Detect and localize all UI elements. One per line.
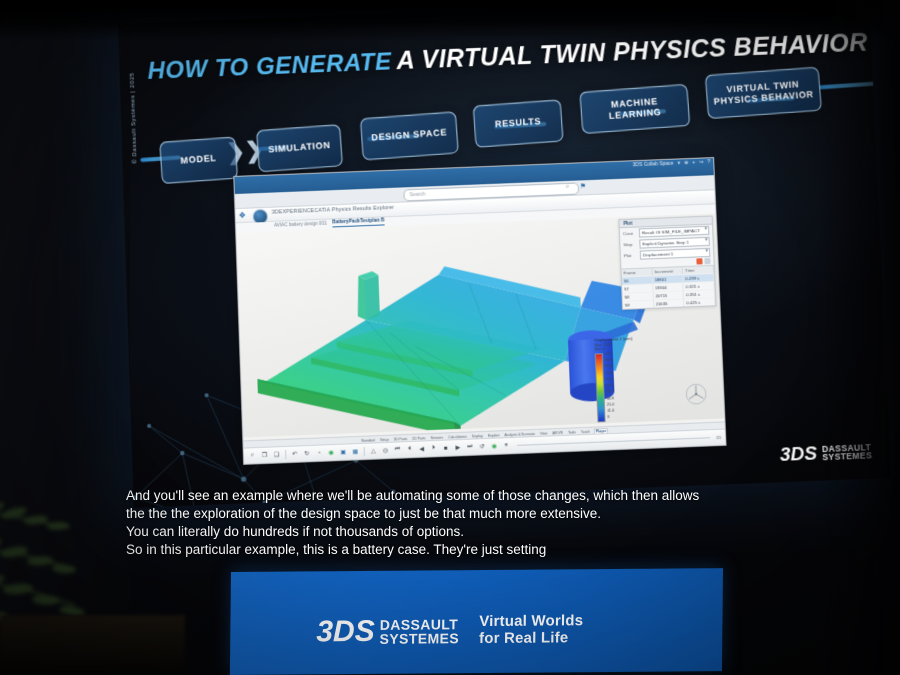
search-icon[interactable]: ⌕: [566, 184, 570, 191]
legend-tick: 11.0: [607, 410, 615, 414]
undo-icon[interactable]: ↶: [290, 449, 299, 458]
legend-tick: 40.7: [606, 391, 614, 395]
cell-time: 0.425 s: [684, 297, 715, 306]
cell-frame: 59: [623, 300, 654, 309]
step-back-icon[interactable]: ⏴: [405, 445, 414, 454]
plot-step-label: Step: [623, 242, 637, 248]
render-icon[interactable]: ◉: [326, 448, 335, 457]
caption-overlay: And you'll see an example where we'll be…: [126, 487, 856, 559]
title-highlight: HOW TO GENERATE: [147, 48, 392, 85]
tagline-line1: Virtual Worlds: [479, 613, 583, 631]
legend-tick: 21.0: [607, 403, 615, 407]
cad-application-window[interactable]: – □ × 3DS Collab Space ▾ ⊕ + ↪ ? Search: [233, 157, 726, 465]
flow-step-label: DESIGN SPACE: [371, 127, 448, 144]
flow-step-label: SIMULATION: [268, 140, 331, 156]
caption-line: the the the exploration of the design sp…: [126, 505, 856, 523]
contour-settings-icon[interactable]: [696, 258, 702, 264]
toolbar-divider: [285, 450, 286, 459]
legend-color-bar: [595, 353, 606, 422]
play-back-icon[interactable]: ◀: [417, 444, 426, 453]
brand-module: Physics Results Explorer: [332, 205, 395, 213]
tag-icon[interactable]: ⚑: [580, 182, 587, 190]
edit-plot-icon[interactable]: [704, 258, 710, 264]
globe-icon[interactable]: ⊕: [684, 160, 688, 166]
contour-legend: Displacement 1 (mm) Max: 103 Min: 0 103 …: [594, 335, 666, 438]
collab-space-area[interactable]: 3DS Collab Space ▾ ⊕ + ↪ ?: [633, 159, 711, 168]
flow-step-label: RESULTS: [495, 116, 542, 131]
skip-last-icon[interactable]: ⏭: [465, 443, 474, 452]
flow-step-model[interactable]: MODEL: [159, 136, 238, 184]
bottom-banner: 3DS DASSAULT SYSTEMES Virtual Worlds for…: [230, 568, 723, 675]
frame-table[interactable]: Frame Increment Time 56 18801 0.299 s 57: [621, 265, 715, 309]
status-right: 1/1: [716, 435, 721, 439]
legend-ticks: 103 90.3 80.4 70.5 60.4 50.6 40.7 30.8 2…: [605, 353, 615, 420]
legend-tick: 103: [605, 353, 613, 357]
zoom-icon[interactable]: ⌕: [248, 451, 257, 460]
banner-ds-logo: 3DS DASSAULT SYSTEMES: [316, 617, 459, 647]
caption-line: And you'll see an example where we'll be…: [126, 487, 856, 505]
timeline-scrubber[interactable]: [517, 437, 710, 446]
brand-suite: EXPERIENCE: [279, 208, 315, 215]
axis-triad-icon[interactable]: [682, 380, 709, 407]
legend-tick: 50.6: [606, 384, 614, 388]
flow-step-machine-learning[interactable]: MACHINE LEARNING: [579, 84, 690, 134]
skip-first-icon[interactable]: ⏮: [393, 445, 402, 454]
flow-step-results[interactable]: RESULTS: [473, 99, 564, 148]
flow-step-label: MACHINE LEARNING: [585, 94, 685, 124]
brand-product: CATIA: [314, 207, 330, 214]
cell-increment: 21635: [654, 298, 685, 307]
flow-step-label: MODEL: [180, 153, 217, 167]
ds-logo-line2: SYSTEMES: [380, 631, 460, 646]
ds-logo-words: DASSAULT SYSTEMES: [380, 617, 460, 646]
project-tab[interactable]: AVIAC battery design 001: [274, 221, 327, 228]
collab-space-label: 3DS Collab Space: [633, 161, 674, 169]
legend-tick: 60.4: [606, 378, 614, 382]
frame-back-icon[interactable]: ⏵: [429, 444, 438, 453]
target-icon[interactable]: ◎: [381, 446, 390, 455]
loop-icon[interactable]: ↺: [477, 442, 486, 451]
play-icon[interactable]: ▶: [453, 443, 462, 452]
paste-icon[interactable]: ❑: [272, 450, 281, 459]
chevron-down-icon[interactable]: ▾: [677, 160, 680, 166]
right-shadow: [820, 0, 900, 675]
rotate-icon[interactable]: ↻: [302, 449, 311, 458]
ds-logo-mark: 3DS: [316, 619, 375, 644]
legend-tick: 80.4: [605, 365, 613, 369]
presentation-slide: © Dassault Systèmes | 2025 HOW TO GENERA…: [118, 0, 891, 508]
record-icon[interactable]: ◉: [489, 442, 498, 451]
flow-step-virtual-twin[interactable]: VIRTUAL TWIN PHYSICS BEHAVIOR: [705, 67, 822, 119]
flow-step-label: VIRTUAL TWIN PHYSICS BEHAVIOR: [713, 78, 815, 108]
legend-tick: 70.5: [606, 372, 614, 376]
legend-body: 103 90.3 80.4 70.5 60.4 50.6 40.7 30.8 2…: [595, 351, 666, 423]
banner-tagline: Virtual Worlds for Real Life: [479, 613, 583, 647]
plot-case-label: Case: [623, 231, 637, 237]
banner-content: 3DS DASSAULT SYSTEMES Virtual Worlds for…: [316, 613, 583, 649]
legend-tick: 90.3: [605, 359, 613, 363]
3d-viewport[interactable]: Plot Case Result Of SIM_FILE_IMPACT Step…: [236, 213, 724, 437]
plus-icon[interactable]: +: [692, 160, 695, 166]
plot-panel[interactable]: Plot Case Result Of SIM_FILE_IMPACT Step…: [618, 215, 716, 309]
pause-icon[interactable]: ⏸: [502, 441, 511, 450]
grid-icon[interactable]: ▦: [351, 447, 360, 456]
caption-line: You can literally do hundreds if not tho…: [126, 523, 856, 541]
tagline-line2: for Real Life: [479, 630, 583, 648]
legend-tick: 30.8: [607, 397, 615, 401]
top-shadow: [0, 0, 900, 40]
help-icon[interactable]: ?: [707, 159, 710, 165]
globe-view-icon[interactable]: ◔: [314, 448, 323, 457]
toolbar-divider: [364, 447, 365, 456]
plot-plot-label: Plot: [624, 253, 638, 259]
slide-copyright: © Dassault Systèmes | 2025: [130, 72, 139, 164]
tab-close-icon[interactable]: ×: [377, 219, 380, 224]
measure-icon[interactable]: △: [369, 446, 378, 455]
ds-logo-mark: 3DS: [780, 446, 818, 463]
compass-icon[interactable]: ❖: [238, 211, 249, 223]
app-brand-text: 3DEXPERIENCECATIA Physics Results Explor…: [272, 205, 395, 216]
stop-icon[interactable]: ■: [441, 443, 450, 452]
flow-step-simulation[interactable]: SIMULATION: [256, 124, 343, 172]
flow-step-design-space[interactable]: DESIGN SPACE: [360, 111, 459, 160]
share-icon[interactable]: ↪: [699, 159, 703, 165]
legend-tick: 0: [607, 416, 615, 420]
projection-screen: © Dassault Systèmes | 2025 HOW TO GENERA…: [118, 0, 891, 508]
copy-icon[interactable]: ❐: [260, 451, 269, 460]
screenshot-root: © Dassault Systèmes | 2025 HOW TO GENERA…: [0, 0, 900, 675]
caption-line: So in this particular example, this is a…: [126, 541, 856, 559]
display-icon[interactable]: ▣: [338, 448, 347, 457]
floor-edge: [0, 615, 185, 675]
